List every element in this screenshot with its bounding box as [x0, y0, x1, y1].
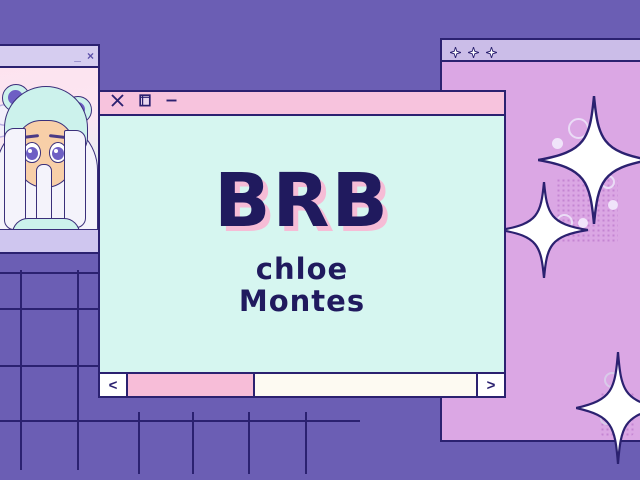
minimize-icon[interactable]: _	[74, 50, 81, 62]
grid-line-v	[77, 270, 79, 470]
sparkle-diamond-icon	[486, 45, 497, 56]
grid-line-h	[0, 420, 360, 422]
illustration-foreground-shelf	[0, 229, 98, 252]
screen: _ ×	[0, 0, 640, 480]
horizontal-scrollbar[interactable]: < >	[100, 372, 504, 396]
sparkle-diamond-icon	[450, 45, 461, 56]
sparkle-window-titlebar[interactable]	[442, 40, 640, 62]
brb-headline: BRB	[214, 166, 390, 236]
portrait-window[interactable]: _ ×	[0, 44, 100, 254]
eyebrow-right	[49, 134, 65, 139]
maximize-icon[interactable]	[137, 93, 152, 113]
scrollbar-thumb[interactable]	[128, 374, 255, 396]
author-first-name: chloe	[239, 253, 365, 285]
hair-strand-right	[64, 130, 86, 228]
grid-line-h	[0, 365, 100, 367]
close-icon[interactable]: ×	[87, 50, 94, 62]
close-icon[interactable]	[110, 93, 125, 113]
portrait-window-body	[0, 68, 98, 252]
portrait-window-titlebar[interactable]: _ ×	[0, 46, 98, 68]
sparkle-diamond-icon	[468, 45, 479, 56]
hair-strand-left	[4, 128, 26, 230]
brb-window[interactable]: BRB chloe Montes < >	[98, 90, 506, 398]
anime-girl-illustration	[0, 68, 98, 252]
scroll-left-button[interactable]: <	[100, 374, 128, 396]
minimize-icon[interactable]	[164, 93, 179, 113]
brb-content-area: BRB chloe Montes	[100, 116, 504, 372]
author-name: chloe Montes	[239, 253, 365, 318]
scroll-right-button[interactable]: >	[476, 374, 504, 396]
brb-window-body: BRB chloe Montes < >	[100, 116, 504, 396]
grid-line-h	[0, 272, 100, 274]
grid-line-h	[0, 308, 100, 310]
scrollbar-track[interactable]	[128, 374, 476, 396]
grid-line-v	[20, 270, 22, 470]
brb-window-titlebar[interactable]	[100, 92, 504, 116]
author-last-name: Montes	[239, 285, 365, 317]
